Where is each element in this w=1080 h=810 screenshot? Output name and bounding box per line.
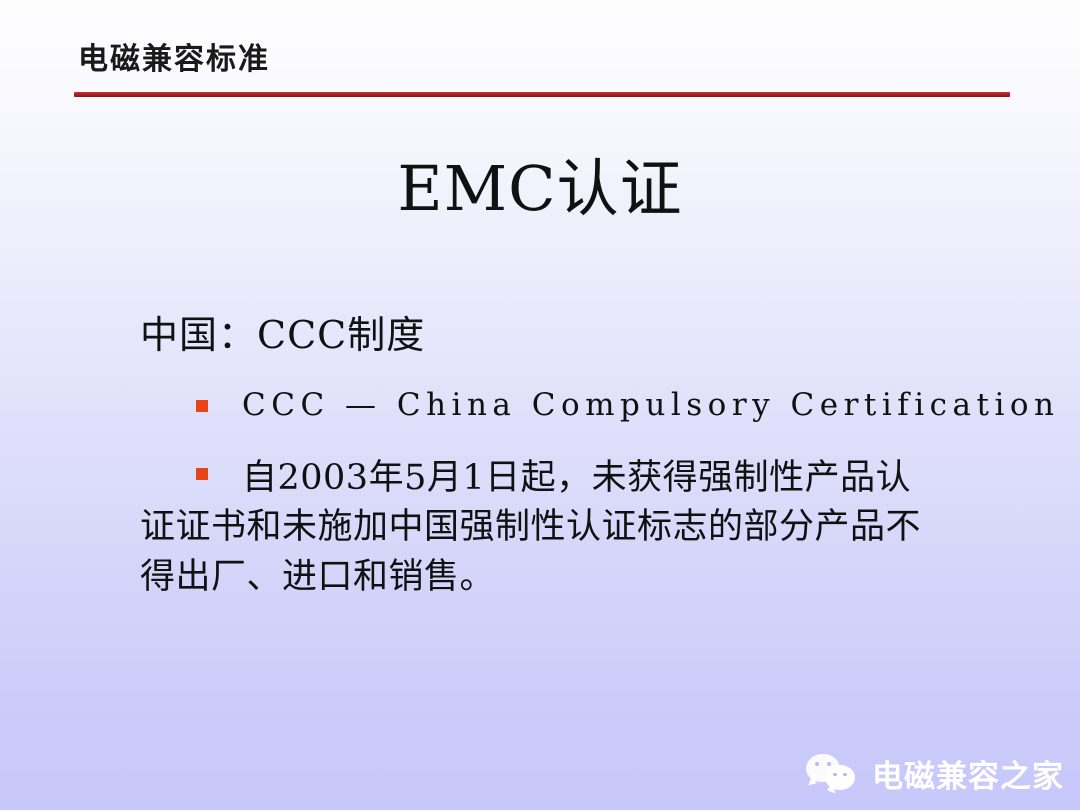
square-bullet-icon bbox=[196, 468, 208, 480]
lead-line: 中国：CCC制度 bbox=[140, 312, 1080, 360]
page-title: EMC认证 bbox=[0, 156, 1080, 221]
watermark-label: 电磁兼容之家 bbox=[872, 751, 1064, 796]
list-item-label: CCC — China Compulsory Certification bbox=[242, 386, 1080, 425]
slide-canvas: 电磁兼容标准 EMC认证 中国：CCC制度 CCC — China Compul… bbox=[0, 0, 1080, 810]
square-bullet-icon bbox=[196, 400, 208, 412]
watermark: 电磁兼容之家 bbox=[806, 751, 1064, 796]
list-item: CCC — China Compulsory Certification bbox=[0, 386, 1080, 426]
slide-body: 中国：CCC制度 CCC — China Compulsory Certific… bbox=[0, 312, 1080, 603]
list-item-label: 自2003年5月1日起，未获得强制性产品认证证书和未施加中国强制性认证标志的部分… bbox=[140, 454, 940, 603]
list-item: 自2003年5月1日起，未获得强制性产品认证证书和未施加中国强制性认证标志的部分… bbox=[0, 454, 1080, 603]
header-title: 电磁兼容标准 bbox=[78, 34, 270, 78]
wechat-icon bbox=[806, 752, 860, 796]
header-divider-rule bbox=[74, 92, 1010, 97]
